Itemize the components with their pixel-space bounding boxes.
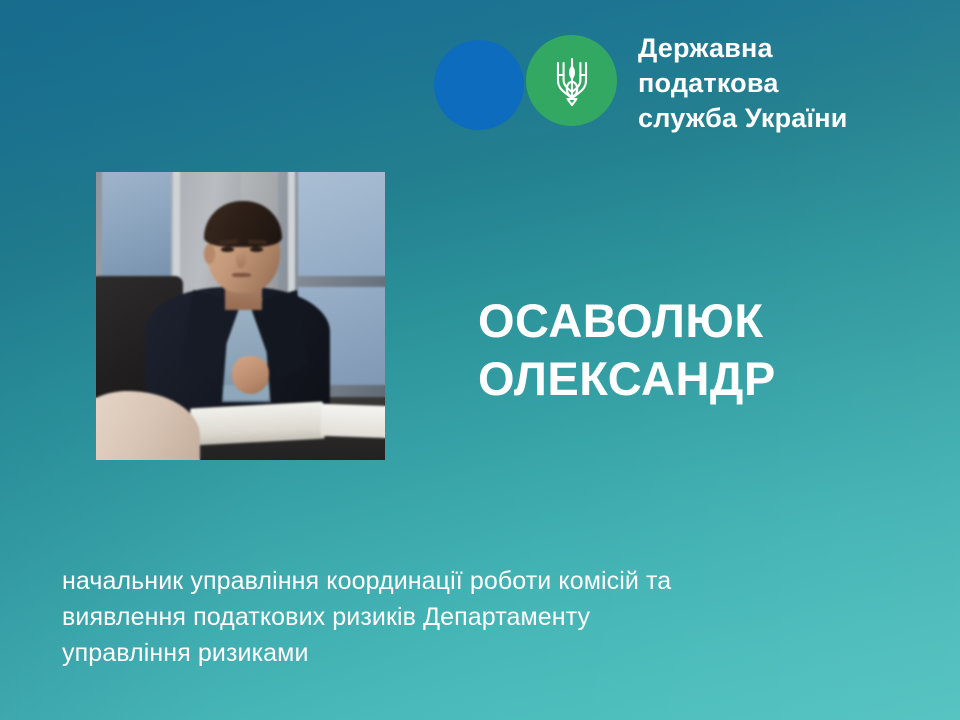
ukraine-trident-icon: [552, 55, 592, 107]
presentation-slide: Державна податкова служба України: [0, 0, 960, 720]
job-title-line-2: виявлення податкових ризиків Департамент…: [62, 599, 852, 635]
tax-service-logo: Державна податкова служба України: [432, 32, 848, 136]
logo-marks: [432, 32, 622, 128]
person-photo: [96, 172, 385, 460]
photo-softening-overlay: [96, 172, 385, 460]
green-circle-icon: [526, 35, 617, 126]
blue-circle-icon: [434, 40, 524, 130]
job-title-line-3: управління ризиками: [62, 635, 852, 671]
logo-text-line-2: податкова: [638, 66, 848, 101]
job-title-line-1: начальник управління координації роботи …: [62, 563, 852, 599]
person-given-name: ОЛЕКСАНДР: [478, 350, 776, 408]
logo-text: Державна податкова служба України: [638, 31, 848, 136]
person-job-title: начальник управління координації роботи …: [62, 563, 852, 671]
person-surname: ОСАВОЛЮК: [478, 292, 776, 350]
person-name: ОСАВОЛЮК ОЛЕКСАНДР: [478, 292, 776, 408]
logo-text-line-3: служба України: [638, 101, 848, 136]
photo-scene: [96, 172, 385, 460]
logo-text-line-1: Державна: [638, 31, 848, 66]
